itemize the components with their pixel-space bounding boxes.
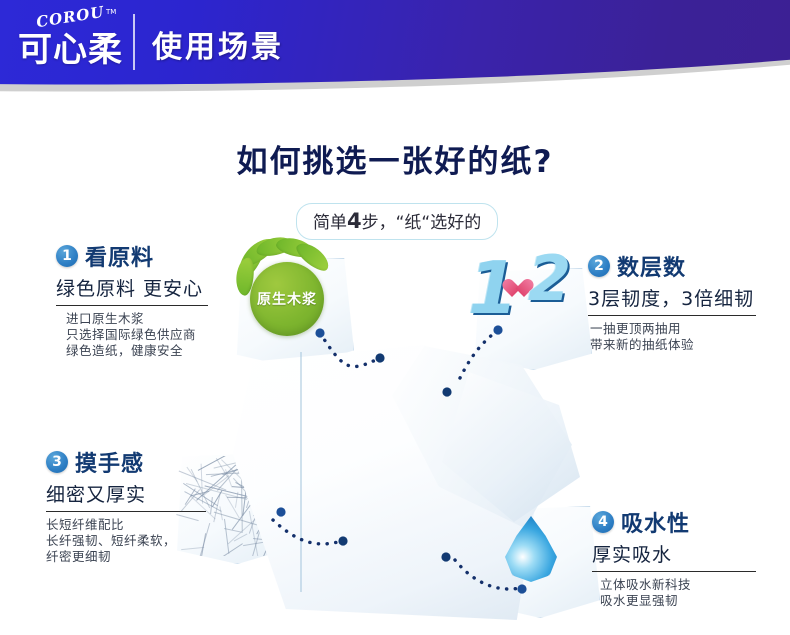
detail-line: 纤密更细韧: [46, 549, 232, 565]
feature-subtitle: 细密又厚实: [46, 480, 232, 507]
leaf-icon: [239, 233, 280, 269]
connector-node: [493, 325, 502, 334]
page-title: 如何挑选一张好的纸?: [0, 136, 790, 181]
leaf-icon: [234, 240, 268, 281]
page-header: COROU TM 可心柔 使用场景: [0, 0, 790, 112]
mini-tissue-raw-material: [232, 258, 354, 368]
feature-detail: 长短纤维配比 长纤强韧、短纤柔软， 纤密更细韧: [46, 517, 232, 565]
divider-line: [592, 571, 756, 572]
connector-node: [338, 536, 347, 545]
logo-chinese-text: 可心柔: [18, 22, 123, 71]
step-number-badge: 2: [588, 255, 610, 277]
detail-line: 带来新的抽纸体验: [590, 337, 784, 353]
trademark-icon: TM: [106, 8, 116, 16]
step-number-badge: 1: [56, 245, 78, 267]
feature-item-layers: 2 数层数 3层韧度，3倍细韧 一抽更顶两抽用 带来新的抽纸体验: [588, 250, 784, 353]
detail-line: 吸水更显强韧: [600, 593, 782, 609]
tissue-edge-line: [300, 352, 502, 592]
divider-line: [56, 305, 208, 306]
step-number-badge: 3: [46, 451, 68, 473]
detail-line: 绿色造纸，健康安全: [66, 343, 234, 359]
subtitle-badge: 简单4步，“纸“选好的: [296, 203, 498, 240]
feature-heading: 3 摸手感: [46, 446, 232, 478]
detail-line: 长纤强韧、短纤柔软，: [46, 533, 232, 549]
layer-numerals: 1 2: [468, 246, 598, 336]
detail-line: 立体吸水新科技: [600, 577, 782, 593]
feature-title: 数层数: [617, 250, 686, 282]
feature-detail: 立体吸水新科技 吸水更显强韧: [592, 577, 782, 609]
brand-logo: COROU TM 可心柔: [14, 6, 124, 76]
leaf-icon: [255, 234, 296, 259]
promo-page: COROU TM 可心柔 使用场景 如何挑选一张好的纸? 原生木浆 1 2: [0, 0, 790, 635]
subtitle-prefix: 简单: [313, 213, 347, 233]
connector-node: [441, 552, 450, 561]
feature-item-texture: 3 摸手感 细密又厚实 长短纤维配比 长纤强韧、短纤柔软， 纤密更细韧: [46, 446, 232, 565]
main-tissue-sheet: [233, 345, 563, 620]
mini-tissue-absorbency: [476, 506, 600, 618]
feature-title: 摸手感: [75, 446, 144, 478]
feature-subtitle: 厚实吸水: [592, 540, 782, 567]
leaf-icon: [293, 238, 333, 275]
detail-line: 长短纤维配比: [46, 517, 232, 533]
connector-node: [517, 584, 526, 593]
feature-subtitle: 绿色原料 更安心: [56, 274, 234, 301]
feature-detail: 进口原生木浆 只选择国际绿色供应商 绿色造纸，健康安全: [56, 311, 234, 359]
feature-title: 看原料: [85, 240, 154, 272]
feature-detail: 一抽更顶两抽用 带来新的抽纸体验: [588, 321, 784, 353]
step-number-badge: 4: [592, 511, 614, 533]
header-title: 使用场景: [152, 22, 284, 66]
feature-heading: 1 看原料: [56, 240, 234, 272]
feature-heading: 4 吸水性: [592, 506, 782, 538]
numeral-one: 1: [468, 252, 518, 324]
divider-line: [46, 511, 206, 512]
water-droplet-icon: [505, 516, 557, 582]
feature-item-raw-material: 1 看原料 绿色原料 更安心 进口原生木浆 只选择国际绿色供应商 绿色造纸，健康…: [56, 240, 234, 359]
subtitle-suffix: 步，“纸“选好的: [362, 213, 482, 233]
connector-node: [442, 387, 451, 396]
feature-subtitle: 3层韧度，3倍细韧: [588, 284, 784, 311]
tissue-fold-lower: [430, 372, 580, 522]
connector-node: [375, 353, 384, 362]
feature-title: 吸水性: [621, 506, 690, 538]
feature-item-absorbency: 4 吸水性 厚实吸水 立体吸水新科技 吸水更显强韧: [592, 506, 782, 609]
connector-node: [315, 328, 324, 337]
detail-line: 一抽更顶两抽用: [590, 321, 784, 337]
connector-node: [276, 507, 285, 516]
detail-line: 只选择国际绿色供应商: [66, 327, 234, 343]
header-divider: [133, 14, 135, 70]
detail-line: 进口原生木浆: [66, 311, 234, 327]
divider-line: [588, 315, 756, 316]
leaf-icon: [235, 257, 256, 297]
green-pulp-badge: 原生木浆: [250, 262, 324, 336]
feature-heading: 2 数层数: [588, 250, 784, 282]
numeral-two: 2: [528, 248, 571, 310]
mini-tissue-layers: [470, 268, 592, 370]
subtitle-number: 4: [347, 209, 362, 233]
tissue-fold-upper: [392, 346, 572, 536]
heart-icon: [512, 280, 534, 300]
